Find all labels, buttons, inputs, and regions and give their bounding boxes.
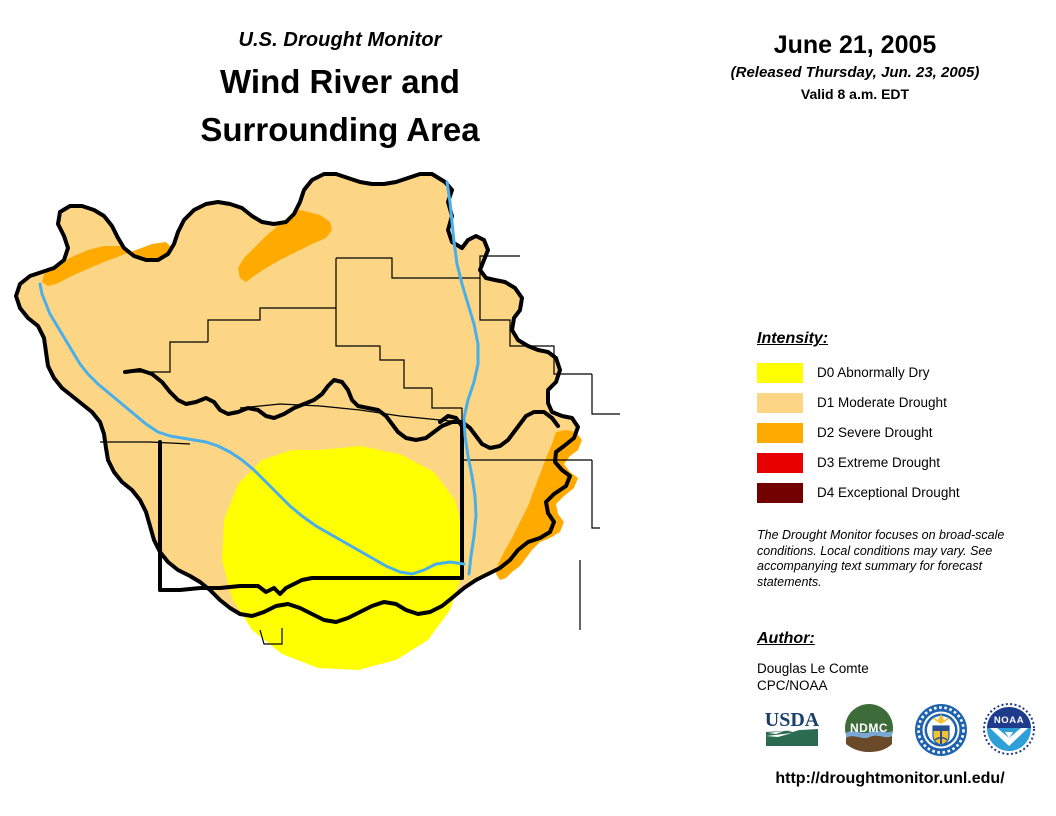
page-title: Wind River and Surrounding Area [130,58,550,154]
author-affiliation: CPC/NOAA [757,677,1017,694]
legend: Intensity: D0 Abnormally Dry D1 Moderate… [757,330,1037,512]
date-block: June 21, 2005 (Released Thursday, Jun. 2… [700,30,1010,103]
d0-area [222,446,464,670]
logo-row: USDA NDMC [757,702,1037,758]
usda-logo: USDA [762,702,822,755]
ndmc-logo: NDMC [842,702,896,759]
drought-map [0,160,720,780]
noaa-logo: NOAA [982,702,1036,761]
svg-text:NDMC: NDMC [850,721,888,735]
legend-label-d1: D1 Moderate Drought [817,395,947,411]
legend-swatch-d4 [757,483,803,503]
legend-swatch-d3 [757,453,803,473]
unl-seal-logo [913,702,969,763]
legend-item-d1: D1 Moderate Drought [757,392,1037,413]
legend-heading: Intensity: [757,330,1037,348]
legend-label-d4: D4 Exceptional Drought [817,485,960,501]
legend-label-d2: D2 Severe Drought [817,425,933,441]
legend-item-d2: D2 Severe Drought [757,422,1037,443]
legend-swatch-d0 [757,363,803,383]
drought-monitor-url[interactable]: http://droughtmonitor.unl.edu/ [740,770,1040,788]
legend-item-d4: D4 Exceptional Drought [757,482,1037,503]
legend-item-d3: D3 Extreme Drought [757,452,1037,473]
title-block: U.S. Drought Monitor Wind River and Surr… [130,28,550,154]
release-date: (Released Thursday, Jun. 23, 2005) [700,63,1010,83]
legend-swatch-d2 [757,423,803,443]
valid-date: June 21, 2005 [700,30,1010,60]
legend-label-d0: D0 Abnormally Dry [817,365,930,381]
valid-time: Valid 8 a.m. EDT [700,85,1010,103]
svg-text:NOAA: NOAA [994,715,1024,726]
author-name: Douglas Le Comte [757,660,1017,677]
drought-layer-d0 [222,446,464,670]
page-title-line1: Wind River and [130,58,550,106]
drought-monitor-label: U.S. Drought Monitor [130,28,550,52]
disclaimer-text: The Drought Monitor focuses on broad-sca… [757,528,1015,590]
page-title-line2: Surrounding Area [130,106,550,154]
svg-text:USDA: USDA [765,709,820,731]
author-heading: Author: [757,630,1017,648]
author-block: Author: Douglas Le Comte CPC/NOAA [757,630,1017,694]
legend-swatch-d1 [757,393,803,413]
legend-item-d0: D0 Abnormally Dry [757,362,1037,383]
legend-label-d3: D3 Extreme Drought [817,455,940,471]
